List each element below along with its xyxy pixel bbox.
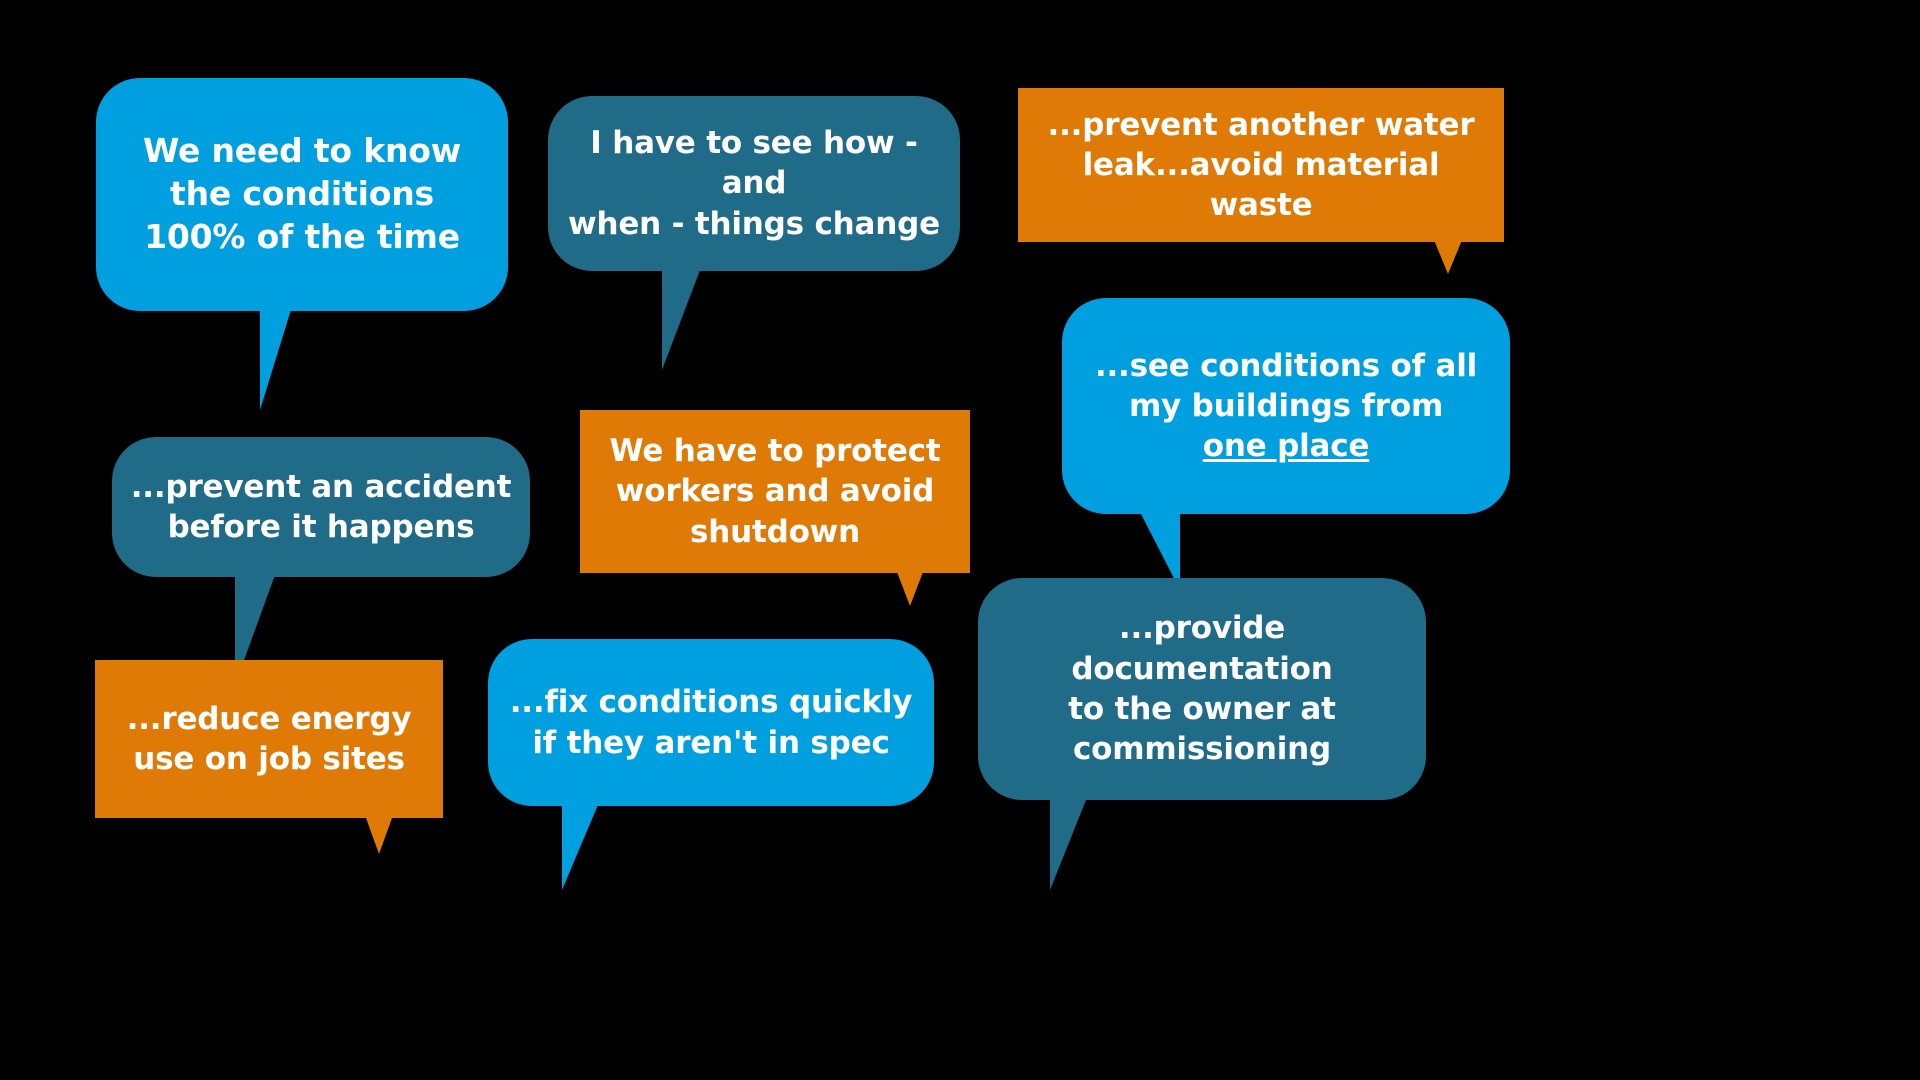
- tail-fix-conditions-quickly: [562, 800, 600, 890]
- bubble-we-need-to-know[interactable]: We need to know the conditions 100% of t…: [96, 78, 508, 311]
- underlined-phrase: one place: [1203, 428, 1370, 464]
- bubble-text: We have to protect workers and avoid shu…: [598, 431, 952, 552]
- tail-we-need-to-know: [260, 300, 294, 410]
- bubble-text: ...see conditions of all my buildings fr…: [1080, 346, 1492, 467]
- bubble-text: We need to know the conditions 100% of t…: [114, 130, 490, 259]
- speech-bubble-diagram: We need to know the conditions 100% of t…: [0, 0, 1920, 1080]
- bubble-text: ...reduce energy use on job sites: [113, 699, 425, 780]
- tail-provide-documentation: [1050, 790, 1090, 890]
- bubble-reduce-energy-use[interactable]: ...reduce energy use on job sites: [95, 660, 443, 818]
- tail-prevent-another-water-leak: [1434, 240, 1462, 274]
- bubble-text: ...provide documentation to the owner at…: [996, 608, 1408, 769]
- bubble-fix-conditions-quickly[interactable]: ...fix conditions quickly if they aren't…: [488, 639, 934, 806]
- bubble-text: ...prevent another water leak...avoid ma…: [1036, 105, 1486, 226]
- tail-reduce-energy-use: [366, 818, 392, 854]
- bubble-prevent-another-water-leak[interactable]: ...prevent another water leak...avoid ma…: [1018, 88, 1504, 242]
- bubble-text: ...fix conditions quickly if they aren't…: [506, 682, 916, 763]
- bubble-see-conditions-of-all-my-buildings[interactable]: ...see conditions of all my buildings fr…: [1062, 298, 1510, 514]
- tail-i-have-to-see-how: [662, 265, 702, 370]
- bubble-provide-documentation[interactable]: ...provide documentation to the owner at…: [978, 578, 1426, 800]
- bubble-text: ...prevent an accident before it happens: [130, 467, 512, 548]
- bubble-prevent-an-accident[interactable]: ...prevent an accident before it happens: [112, 437, 530, 577]
- bubble-text: I have to see how - and when - things ch…: [566, 123, 942, 244]
- bubble-we-have-to-protect-workers[interactable]: We have to protect workers and avoid shu…: [580, 410, 970, 573]
- tail-we-have-to-protect-workers: [897, 572, 923, 606]
- bubble-i-have-to-see-how[interactable]: I have to see how - and when - things ch…: [548, 96, 960, 271]
